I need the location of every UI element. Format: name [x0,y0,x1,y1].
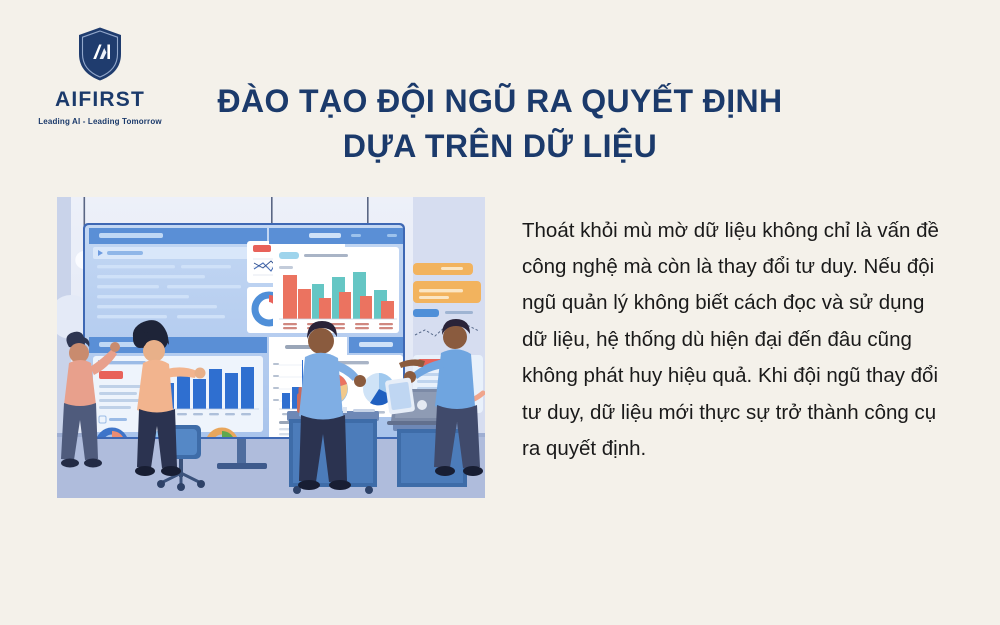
logo-wordmark: AIFIRST [55,88,145,112]
body-paragraph: Thoát khỏi mù mờ dữ liệu không chỉ là vấ… [522,213,940,468]
pendant-lamp-3 [367,197,369,223]
page-title-line-1: ĐÀO TẠO ĐỘI NGŨ RA QUYẾT ĐỊNH [190,79,810,123]
dashboard-top-right [269,228,403,333]
logo-tagline: Leading AI - Leading Tomorrow [38,117,161,126]
illustration-svg [57,197,485,498]
pendant-lamp-2 [271,197,273,223]
shield-ai-icon [76,26,124,82]
illustration-data-team-dashboard [57,197,485,498]
page-title-line-2: DỰA TRÊN DỮ LIỆU [190,124,810,168]
brand-logo: AIFIRST Leading AI - Leading Tomorrow [26,26,174,136]
page-title: ĐÀO TẠO ĐỘI NGŨ RA QUYẾT ĐỊNH DỰA TRÊN D… [190,79,810,167]
